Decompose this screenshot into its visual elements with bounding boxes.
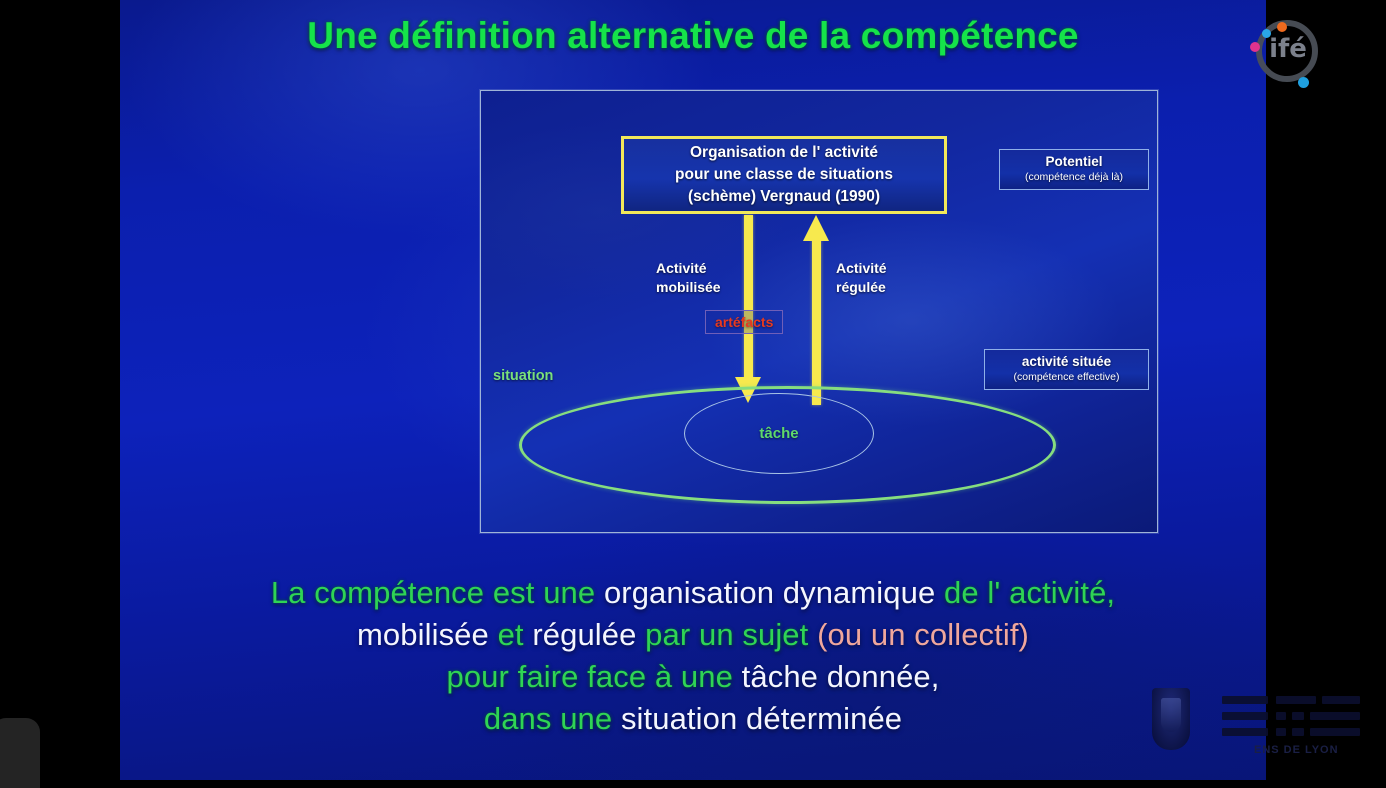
logo-bar xyxy=(1276,712,1286,720)
activite-regulee-label: Activité régulée xyxy=(836,259,887,297)
activite-mobilisee-arrow xyxy=(735,215,762,403)
potentiel-title: Potentiel xyxy=(1045,154,1102,171)
ens-logo-label: ENS DE LYON xyxy=(1254,744,1364,756)
caption-seg: et xyxy=(498,617,533,652)
caption-seg: de l' activité, xyxy=(935,575,1115,610)
caption-seg: tâche donnée, xyxy=(742,659,940,694)
organisation-line-1: Organisation de l' activité xyxy=(690,142,878,164)
organisation-line-3: (schème) Vergnaud (1990) xyxy=(688,186,880,208)
ife-logo: ifé xyxy=(1240,14,1328,92)
caption-line-1: La compétence est une organisation dynam… xyxy=(120,572,1266,614)
caption-seg: organisation dynamique xyxy=(604,575,935,610)
logo-bar xyxy=(1292,728,1304,736)
cyan-dot-icon xyxy=(1298,77,1309,88)
logo-bar xyxy=(1222,728,1268,736)
letterbox-left xyxy=(0,0,120,780)
situation-label: situation xyxy=(493,368,553,384)
diagram-frame: Organisation de l' activité pour une cla… xyxy=(480,90,1158,533)
corner-decoration xyxy=(0,718,40,788)
logo-bar xyxy=(1222,696,1268,704)
logo-bar xyxy=(1310,712,1360,720)
orange-dot-icon xyxy=(1277,22,1287,32)
logo-bar xyxy=(1310,728,1360,736)
caption-seg: (ou un collectif) xyxy=(817,617,1029,652)
activite-situee-box: activité située (compétence effective) xyxy=(984,349,1149,390)
activite-situee-subtitle: (compétence effective) xyxy=(1013,371,1119,385)
activite-mobilisee-label-l2: mobilisée xyxy=(656,278,721,297)
ens-logo-mark xyxy=(1222,696,1360,748)
letterbox-right xyxy=(1266,0,1386,780)
caption-seg: dans une xyxy=(484,701,621,736)
caption-line-2: mobilisée et régulée par un sujet (ou un… xyxy=(120,614,1266,656)
logo-bar xyxy=(1292,712,1304,720)
activite-mobilisee-label: Activité mobilisée xyxy=(656,259,721,297)
caption-line-4: dans une situation déterminée xyxy=(120,698,1266,740)
activite-regulee-label-l2: régulée xyxy=(836,278,887,297)
slide-canvas: Une définition alternative de la compéte… xyxy=(120,0,1266,780)
caption-seg: régulée xyxy=(532,617,645,652)
logo-bar xyxy=(1276,728,1286,736)
caption-seg: pour faire face à une xyxy=(447,659,742,694)
caption-seg: situation déterminée xyxy=(621,701,902,736)
caption-seg: mobilisée xyxy=(357,617,498,652)
page-title: Une définition alternative de la compéte… xyxy=(120,15,1266,57)
organisation-activite-box: Organisation de l' activité pour une cla… xyxy=(621,136,947,214)
activite-regulee-arrow xyxy=(803,215,830,405)
arrow-head-up-icon xyxy=(803,215,829,241)
logo-bar xyxy=(1276,696,1316,704)
logo-wordmark: ifé xyxy=(1258,36,1318,62)
arrow-shaft xyxy=(744,215,753,383)
organisation-line-2: pour une classe de situations xyxy=(675,164,893,186)
logo-bar xyxy=(1222,712,1268,720)
slide-caption: La compétence est une organisation dynam… xyxy=(120,572,1266,740)
potentiel-subtitle: (compétence déjà là) xyxy=(1025,171,1123,185)
caption-seg: par un sujet xyxy=(645,617,817,652)
tache-label: tâche xyxy=(684,393,874,474)
caption-seg: La compétence xyxy=(271,575,484,610)
ens-crest-icon xyxy=(1152,688,1190,750)
potentiel-box: Potentiel (compétence déjà là) xyxy=(999,149,1149,190)
activite-mobilisee-label-l1: Activité xyxy=(656,259,721,278)
caption-seg: est une xyxy=(484,575,604,610)
logo-bar xyxy=(1322,696,1360,704)
slide-stage: Une définition alternative de la compéte… xyxy=(0,0,1386,780)
arrow-shaft xyxy=(812,237,821,405)
activite-situee-title: activité située xyxy=(1022,354,1111,371)
artefacts-label: artéfacts xyxy=(705,310,783,334)
caption-line-3: pour faire face à une tâche donnée, xyxy=(120,656,1266,698)
activite-regulee-label-l1: Activité xyxy=(836,259,887,278)
